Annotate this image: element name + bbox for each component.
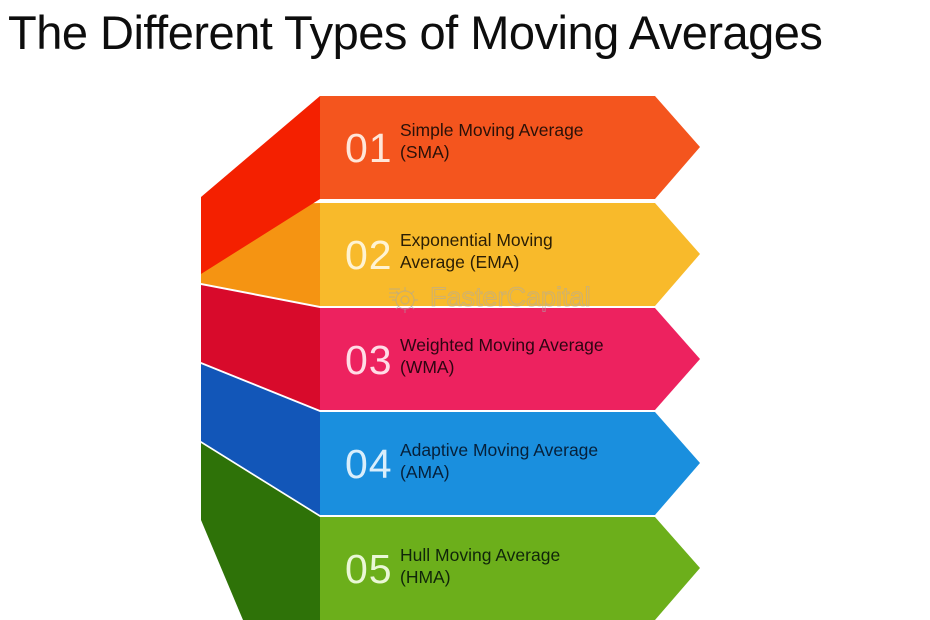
- moving-averages-infographic: 05 Hull Moving Average (HMA) 04 Adaptive…: [0, 0, 930, 620]
- band-number-02: 02: [345, 232, 393, 278]
- band-text-line2-03: (WMA): [400, 357, 454, 377]
- band-number-04: 04: [345, 441, 393, 487]
- band-text-line2-02: Average (EMA): [400, 252, 519, 272]
- band-text-line2-01: (SMA): [400, 142, 450, 162]
- band-text-line1-01: Simple Moving Average: [400, 120, 584, 140]
- band-number-05: 05: [345, 546, 393, 592]
- band-number-01: 01: [345, 125, 393, 171]
- band-text-line1-04: Adaptive Moving Average: [400, 440, 598, 460]
- band-text-line2-05: (HMA): [400, 567, 451, 587]
- band-text-line1-03: Weighted Moving Average: [400, 335, 604, 355]
- band-number-03: 03: [345, 337, 393, 383]
- band-text-line1-05: Hull Moving Average: [400, 545, 560, 565]
- band-text-line2-04: (AMA): [400, 462, 450, 482]
- band-text-line1-02: Exponential Moving: [400, 230, 553, 250]
